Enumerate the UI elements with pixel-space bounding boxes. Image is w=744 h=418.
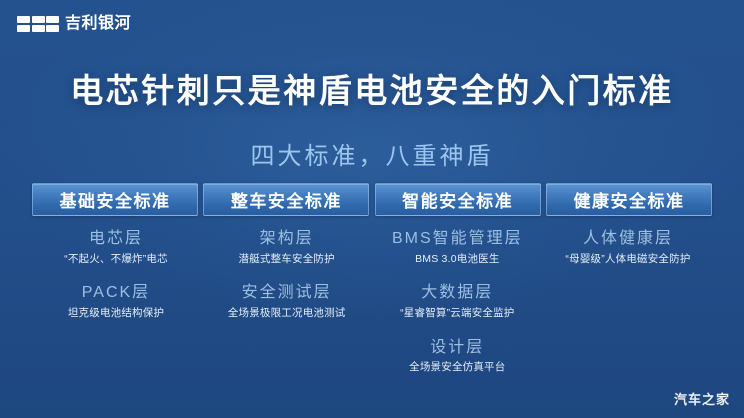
category-button-row: 基础安全标准 整车安全标准 智能安全标准 健康安全标准 — [32, 183, 712, 216]
layer-title: BMS智能管理层 — [373, 228, 541, 250]
layer-title: 人体健康层 — [544, 228, 712, 250]
category-button-vehicle-safety[interactable]: 整车安全标准 — [203, 183, 369, 216]
category-button-intelligent-safety[interactable]: 智能安全标准 — [375, 183, 541, 216]
layer-description: 全场景安全仿真平台 — [373, 360, 541, 375]
layer-title: PACK层 — [32, 282, 200, 304]
grid-logo-icon — [17, 16, 59, 32]
layer-description: “不起火、不爆炸”电芯 — [32, 252, 200, 267]
layer-item: PACK层 坦克级电池结构保护 — [32, 282, 200, 320]
layer-title: 设计层 — [373, 337, 541, 359]
category-button-basic-safety[interactable]: 基础安全标准 — [32, 183, 198, 216]
layer-column-intelligent-safety: BMS智能管理层 BMS 3.0电池医生 大数据层 “星睿智算”云端安全监护 设… — [373, 228, 541, 391]
brand-logo: 吉利银河 — [17, 14, 131, 34]
layer-column-basic-safety: 电芯层 “不起火、不爆炸”电芯 PACK层 坦克级电池结构保护 — [32, 228, 200, 391]
layer-description: 全场景极限工况电池测试 — [203, 306, 371, 321]
page-title: 电芯针刺只是神盾电池安全的入门标准 — [0, 64, 744, 112]
layer-column-vehicle-safety: 架构层 潜艇式整车安全防护 安全测试层 全场景极限工况电池测试 — [203, 228, 371, 391]
layer-title: 大数据层 — [373, 282, 541, 304]
layer-item: 人体健康层 “母婴级”人体电磁安全防护 — [544, 228, 712, 266]
layer-item: BMS智能管理层 BMS 3.0电池医生 — [373, 228, 541, 266]
layer-item: 架构层 潜艇式整车安全防护 — [203, 228, 371, 266]
layer-title: 架构层 — [203, 228, 371, 250]
layer-description: “母婴级”人体电磁安全防护 — [544, 252, 712, 267]
layer-item: 安全测试层 全场景极限工况电池测试 — [203, 282, 371, 320]
layer-title: 电芯层 — [32, 228, 200, 250]
layer-columns: 电芯层 “不起火、不爆炸”电芯 PACK层 坦克级电池结构保护 架构层 潜艇式整… — [32, 228, 712, 391]
category-button-health-safety[interactable]: 健康安全标准 — [546, 183, 712, 216]
page-subtitle: 四大标准，八重神盾 — [0, 136, 744, 171]
brand-name: 吉利银河 — [65, 16, 131, 32]
layer-description: BMS 3.0电池医生 — [373, 252, 541, 267]
layer-item: 电芯层 “不起火、不爆炸”电芯 — [32, 228, 200, 266]
layer-title: 安全测试层 — [203, 282, 371, 304]
layer-item: 设计层 全场景安全仿真平台 — [373, 337, 541, 375]
slide-canvas: 吉利银河 电芯针刺只是神盾电池安全的入门标准 四大标准，八重神盾 基础安全标准 … — [0, 0, 744, 418]
layer-description: 潜艇式整车安全防护 — [203, 252, 371, 267]
layer-column-health-safety: 人体健康层 “母婴级”人体电磁安全防护 — [544, 228, 712, 391]
layer-description: “星睿智算”云端安全监护 — [373, 306, 541, 321]
layer-description: 坦克级电池结构保护 — [32, 306, 200, 321]
watermark: 汽车之家 — [674, 389, 730, 408]
layer-item: 大数据层 “星睿智算”云端安全监护 — [373, 282, 541, 320]
